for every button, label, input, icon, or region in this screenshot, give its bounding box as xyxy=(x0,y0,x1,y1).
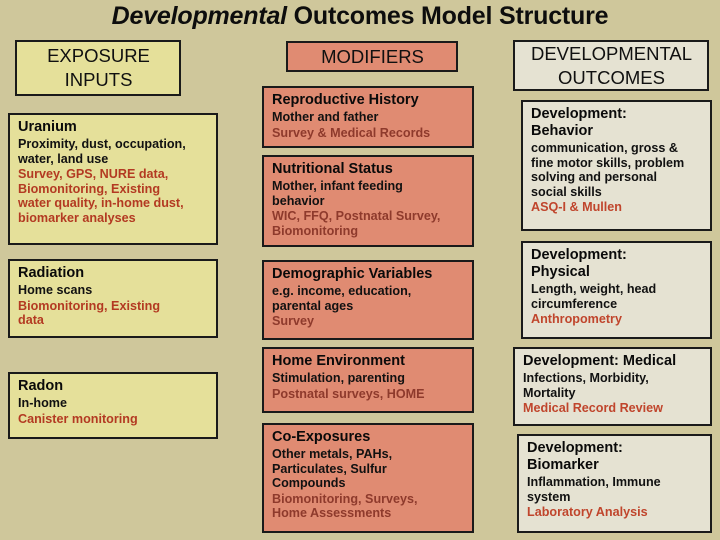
exposure-box-uranium-detail: Proximity, dust, occupation, water, land… xyxy=(18,137,209,166)
outcome-box-medical[interactable]: Development: Medical Infections, Morbidi… xyxy=(513,347,712,426)
modifier-box-nutritional-status-detail: Mother, infant feeding behavior xyxy=(272,179,465,208)
modifier-box-demographic-variables-source: Survey xyxy=(272,314,465,329)
header-exposure-line-1: EXPOSURE xyxy=(47,44,150,68)
modifier-box-co-exposures-source: Biomonitoring, Surveys, Home Assessments xyxy=(272,492,465,521)
outcome-box-biomarker-title: Development: Biomarker xyxy=(527,440,703,474)
modifier-box-nutritional-status-title: Nutritional Status xyxy=(272,161,465,178)
exposure-box-radon-source: Canister monitoring xyxy=(18,412,209,427)
modifier-box-home-environment[interactable]: Home Environment Stimulation, parenting … xyxy=(262,347,474,413)
outcome-box-medical-source: Medical Record Review xyxy=(523,401,703,416)
outcome-box-biomarker-detail: Inflammation, Immune system xyxy=(527,475,703,504)
outcome-box-physical[interactable]: Development: Physical Length, weight, he… xyxy=(521,241,712,339)
header-exposure-line-2: INPUTS xyxy=(65,68,133,92)
outcome-box-physical-detail: Length, weight, head circumference xyxy=(531,282,703,311)
modifier-box-reproductive-history-detail: Mother and father xyxy=(272,110,465,125)
exposure-box-radon-title: Radon xyxy=(18,378,209,395)
modifier-box-reproductive-history-source: Survey & Medical Records xyxy=(272,126,465,141)
outcome-box-biomarker[interactable]: Development: Biomarker Inflammation, Imm… xyxy=(517,434,712,533)
exposure-box-uranium[interactable]: Uranium Proximity, dust, occupation, wat… xyxy=(8,113,218,245)
exposure-box-uranium-title: Uranium xyxy=(18,119,209,136)
outcome-box-behavior[interactable]: Development: Behavior communication, gro… xyxy=(521,100,712,231)
modifier-box-co-exposures-detail: Other metals, PAHs, Particulates, Sulfur… xyxy=(272,447,465,491)
exposure-box-uranium-source: Survey, GPS, NURE data, Biomonitoring, E… xyxy=(18,167,209,225)
outcome-box-behavior-source: ASQ-I & Mullen xyxy=(531,200,703,215)
header-developmental-outcomes: DEVELOPMENTAL OUTCOMES xyxy=(513,40,709,91)
header-modifiers: MODIFIERS xyxy=(286,41,458,72)
exposure-box-radon[interactable]: Radon In-home Canister monitoring xyxy=(8,372,218,439)
exposure-box-radiation-detail: Home scans xyxy=(18,283,209,298)
outcome-box-medical-title: Development: Medical xyxy=(523,353,703,370)
modifier-box-nutritional-status-source: WIC, FFQ, Postnatal Survey, Biomonitorin… xyxy=(272,209,465,238)
diagram-canvas: Developmental Outcomes Model Structure E… xyxy=(0,0,720,540)
modifier-box-nutritional-status[interactable]: Nutritional Status Mother, infant feedin… xyxy=(262,155,474,247)
exposure-box-radon-detail: In-home xyxy=(18,396,209,411)
header-outcomes-line-2: OUTCOMES xyxy=(558,66,665,90)
header-modifiers-line-1: MODIFIERS xyxy=(321,45,424,69)
outcome-box-medical-detail: Infections, Morbidity, Mortality xyxy=(523,371,703,400)
modifier-box-demographic-variables-title: Demographic Variables xyxy=(272,266,465,283)
modifier-box-co-exposures[interactable]: Co-Exposures Other metals, PAHs, Particu… xyxy=(262,423,474,533)
modifier-box-home-environment-source: Postnatal surveys, HOME xyxy=(272,387,465,402)
outcome-box-biomarker-source: Laboratory Analysis xyxy=(527,505,703,520)
outcome-box-physical-source: Anthropometry xyxy=(531,312,703,327)
modifier-box-home-environment-title: Home Environment xyxy=(272,353,465,370)
header-outcomes-line-1: DEVELOPMENTAL xyxy=(531,42,692,66)
modifier-box-co-exposures-title: Co-Exposures xyxy=(272,429,465,446)
page-title: Developmental Outcomes Model Structure xyxy=(0,2,720,31)
header-exposure-inputs: EXPOSURE INPUTS xyxy=(15,40,181,96)
page-title-rest: Outcomes Model Structure xyxy=(287,2,608,30)
exposure-box-radiation-source: Biomonitoring, Existing data xyxy=(18,299,209,328)
modifier-box-demographic-variables-detail: e.g. income, education, parental ages xyxy=(272,284,465,313)
modifier-box-demographic-variables[interactable]: Demographic Variables e.g. income, educa… xyxy=(262,260,474,340)
modifier-box-home-environment-detail: Stimulation, parenting xyxy=(272,371,465,386)
outcome-box-physical-title: Development: Physical xyxy=(531,247,703,281)
modifier-box-reproductive-history-title: Reproductive History xyxy=(272,92,465,109)
exposure-box-radiation-title: Radiation xyxy=(18,265,209,282)
exposure-box-radiation[interactable]: Radiation Home scans Biomonitoring, Exis… xyxy=(8,259,218,338)
modifier-box-reproductive-history[interactable]: Reproductive History Mother and father S… xyxy=(262,86,474,148)
outcome-box-behavior-detail: communication, gross & fine motor skills… xyxy=(531,141,703,199)
page-title-emphasis: Developmental xyxy=(112,2,287,30)
outcome-box-behavior-title: Development: Behavior xyxy=(531,106,703,140)
